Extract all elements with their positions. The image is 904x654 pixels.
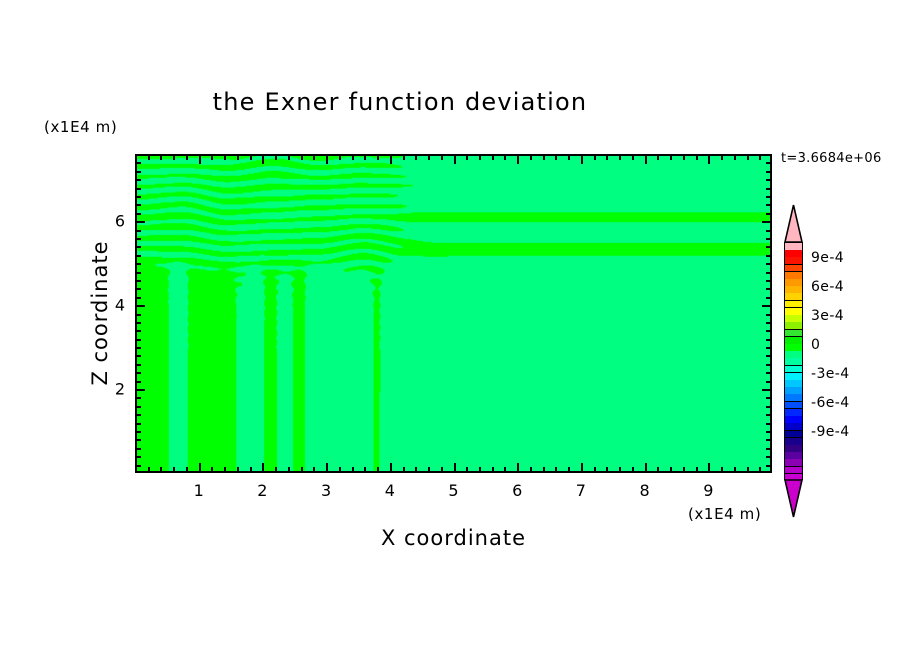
x-minor-tick	[734, 467, 736, 472]
x-minor-tick-top	[594, 155, 596, 160]
y-minor-tick	[136, 297, 141, 299]
x-major-tick	[581, 463, 583, 472]
x-axis-unit-label: (x1E4 m)	[688, 505, 761, 523]
x-minor-tick-top	[696, 155, 698, 160]
x-minor-tick	[428, 467, 430, 472]
x-minor-tick	[619, 467, 621, 472]
x-major-tick	[390, 463, 392, 472]
x-minor-tick	[759, 467, 761, 472]
x-minor-tick	[275, 467, 277, 472]
x-minor-tick	[530, 467, 532, 472]
x-major-tick-top	[262, 155, 264, 164]
x-minor-tick-top	[428, 155, 430, 160]
x-major-tick-top	[326, 155, 328, 164]
x-minor-tick-top	[632, 155, 634, 160]
colorbar-tick-label: 6e-4	[811, 279, 844, 295]
x-minor-tick-top	[670, 155, 672, 160]
y-minor-tick	[136, 171, 141, 173]
x-minor-tick	[173, 467, 175, 472]
x-minor-tick	[211, 467, 213, 472]
y-major-tick-right	[762, 305, 771, 307]
x-minor-tick	[288, 467, 290, 472]
x-minor-tick	[747, 467, 749, 472]
y-minor-tick	[136, 179, 141, 181]
colorbar-tick-label: 0	[811, 337, 820, 353]
x-tick-label: 9	[703, 481, 713, 500]
x-major-tick	[454, 463, 456, 472]
y-major-tick-right	[762, 221, 771, 223]
x-minor-tick-top	[619, 155, 621, 160]
x-minor-tick-top	[657, 155, 659, 160]
y-minor-tick	[136, 381, 141, 383]
x-minor-tick	[670, 467, 672, 472]
y-minor-tick-right	[766, 355, 771, 357]
colorbar-top-arrow-icon	[784, 204, 803, 243]
y-minor-tick-right	[766, 297, 771, 299]
x-minor-tick-top	[352, 155, 354, 160]
x-minor-tick	[568, 467, 570, 472]
y-minor-tick-right	[766, 314, 771, 316]
x-minor-tick-top	[555, 155, 557, 160]
x-minor-tick-top	[606, 155, 608, 160]
y-minor-tick-right	[766, 465, 771, 467]
y-minor-tick	[136, 263, 141, 265]
colorbar-tick-label: 9e-4	[811, 250, 844, 266]
x-minor-tick-top	[173, 155, 175, 160]
y-minor-tick	[136, 372, 141, 374]
x-minor-tick	[250, 467, 252, 472]
x-minor-tick	[441, 467, 443, 472]
x-minor-tick-top	[250, 155, 252, 160]
y-minor-tick	[136, 397, 141, 399]
y-minor-tick	[136, 439, 141, 441]
x-major-tick	[517, 463, 519, 472]
time-stamp-label: t=3.6684e+06	[781, 151, 882, 166]
x-minor-tick-top	[721, 155, 723, 160]
y-minor-tick-right	[766, 188, 771, 190]
x-tick-label: 1	[194, 481, 204, 500]
x-minor-tick	[403, 467, 405, 472]
y-minor-tick-right	[766, 364, 771, 366]
colorbar-bottom-arrow-icon	[784, 479, 803, 518]
y-minor-tick	[136, 314, 141, 316]
y-minor-tick	[136, 456, 141, 458]
y-minor-tick	[136, 272, 141, 274]
y-minor-tick	[136, 238, 141, 240]
x-minor-tick-top	[186, 155, 188, 160]
x-minor-tick-top	[160, 155, 162, 160]
x-minor-tick	[237, 467, 239, 472]
y-minor-tick-right	[766, 171, 771, 173]
y-minor-tick	[136, 322, 141, 324]
x-minor-tick	[543, 467, 545, 472]
x-major-tick	[326, 463, 328, 472]
x-major-tick-top	[454, 155, 456, 164]
x-minor-tick	[415, 467, 417, 472]
y-minor-tick-right	[766, 322, 771, 324]
x-tick-label: 7	[576, 481, 586, 500]
colorbar-tick-label: -6e-4	[811, 395, 850, 411]
y-minor-tick	[136, 288, 141, 290]
y-minor-tick	[136, 406, 141, 408]
y-minor-tick	[136, 196, 141, 198]
x-minor-tick	[224, 467, 226, 472]
x-minor-tick	[555, 467, 557, 472]
page-title: the Exner function deviation	[0, 88, 800, 116]
y-minor-tick-right	[766, 179, 771, 181]
y-minor-tick	[136, 448, 141, 450]
x-minor-tick-top	[275, 155, 277, 160]
x-minor-tick	[696, 467, 698, 472]
x-minor-tick	[466, 467, 468, 472]
contour-field	[137, 156, 770, 471]
y-minor-tick	[136, 213, 141, 215]
x-major-tick	[645, 463, 647, 472]
x-minor-tick-top	[288, 155, 290, 160]
y-major-tick	[136, 221, 145, 223]
x-minor-tick	[479, 467, 481, 472]
y-minor-tick	[136, 364, 141, 366]
x-tick-label: 5	[448, 481, 458, 500]
x-major-tick	[199, 463, 201, 472]
y-minor-tick-right	[766, 272, 771, 274]
x-minor-tick-top	[148, 155, 150, 160]
x-minor-tick	[594, 467, 596, 472]
x-minor-tick-top	[313, 155, 315, 160]
y-minor-tick-right	[766, 456, 771, 458]
y-minor-tick-right	[766, 246, 771, 248]
y-minor-tick-right	[766, 238, 771, 240]
y-minor-tick	[136, 355, 141, 357]
x-minor-tick-top	[364, 155, 366, 160]
x-major-tick-top	[390, 155, 392, 164]
x-minor-tick-top	[568, 155, 570, 160]
y-minor-tick	[136, 465, 141, 467]
y-minor-tick-right	[766, 230, 771, 232]
y-minor-tick	[136, 330, 141, 332]
y-minor-tick-right	[766, 330, 771, 332]
x-minor-tick-top	[492, 155, 494, 160]
y-minor-tick-right	[766, 431, 771, 433]
y-minor-tick	[136, 188, 141, 190]
y-minor-tick-right	[766, 448, 771, 450]
y-minor-tick-right	[766, 255, 771, 257]
x-minor-tick	[377, 467, 379, 472]
x-minor-tick	[301, 467, 303, 472]
x-minor-tick-top	[403, 155, 405, 160]
y-minor-tick-right	[766, 439, 771, 441]
x-minor-tick-top	[377, 155, 379, 160]
x-minor-tick	[492, 467, 494, 472]
x-minor-tick-top	[224, 155, 226, 160]
x-minor-tick	[721, 467, 723, 472]
y-minor-tick-right	[766, 196, 771, 198]
x-major-tick	[262, 463, 264, 472]
x-minor-tick-top	[211, 155, 213, 160]
x-major-tick-top	[199, 155, 201, 164]
x-minor-tick	[364, 467, 366, 472]
y-minor-tick	[136, 162, 141, 164]
y-minor-tick-right	[766, 162, 771, 164]
x-minor-tick-top	[683, 155, 685, 160]
y-minor-tick-right	[766, 397, 771, 399]
x-major-tick-top	[708, 155, 710, 164]
x-minor-tick	[160, 467, 162, 472]
x-tick-label: 4	[385, 481, 395, 500]
x-minor-tick-top	[734, 155, 736, 160]
y-minor-tick-right	[766, 213, 771, 215]
colorbar-tick-label: -9e-4	[811, 424, 850, 440]
x-minor-tick-top	[466, 155, 468, 160]
x-major-tick-top	[581, 155, 583, 164]
y-major-tick	[136, 305, 145, 307]
y-minor-tick	[136, 423, 141, 425]
x-major-tick-top	[645, 155, 647, 164]
x-minor-tick	[632, 467, 634, 472]
x-minor-tick-top	[441, 155, 443, 160]
x-minor-tick-top	[747, 155, 749, 160]
y-major-tick-right	[762, 389, 771, 391]
x-minor-tick	[683, 467, 685, 472]
y-minor-tick	[136, 246, 141, 248]
y-minor-tick-right	[766, 280, 771, 282]
y-minor-tick	[136, 339, 141, 341]
y-minor-tick-right	[766, 263, 771, 265]
x-tick-label: 2	[257, 481, 267, 500]
x-minor-tick	[606, 467, 608, 472]
y-minor-tick-right	[766, 204, 771, 206]
colorbar-tick-label: 3e-4	[811, 308, 844, 324]
y-minor-tick	[136, 414, 141, 416]
plot-area	[135, 154, 772, 473]
x-minor-tick-top	[415, 155, 417, 160]
x-minor-tick-top	[543, 155, 545, 160]
y-minor-tick	[136, 204, 141, 206]
colorbar-tick-label: -3e-4	[811, 366, 850, 382]
y-minor-tick	[136, 230, 141, 232]
y-minor-tick-right	[766, 381, 771, 383]
x-tick-label: 6	[512, 481, 522, 500]
y-minor-tick-right	[766, 372, 771, 374]
x-minor-tick	[504, 467, 506, 472]
x-tick-label: 3	[321, 481, 331, 500]
y-minor-tick-right	[766, 339, 771, 341]
y-minor-tick-right	[766, 347, 771, 349]
y-minor-tick-right	[766, 423, 771, 425]
y-minor-tick	[136, 255, 141, 257]
colorbar-segments	[784, 242, 803, 480]
x-minor-tick	[352, 467, 354, 472]
x-tick-label: 8	[640, 481, 650, 500]
x-minor-tick	[339, 467, 341, 472]
x-minor-tick-top	[759, 155, 761, 160]
x-minor-tick-top	[530, 155, 532, 160]
y-minor-tick	[136, 431, 141, 433]
y-major-tick	[136, 389, 145, 391]
x-minor-tick-top	[237, 155, 239, 160]
x-minor-tick-top	[504, 155, 506, 160]
x-major-tick-top	[517, 155, 519, 164]
x-minor-tick	[186, 467, 188, 472]
x-major-tick	[708, 463, 710, 472]
contour-plot-figure: the Exner function deviation (x1E4 m) (x…	[0, 0, 904, 654]
x-minor-tick-top	[479, 155, 481, 160]
y-minor-tick-right	[766, 406, 771, 408]
y-axis-unit-label: (x1E4 m)	[44, 118, 117, 136]
y-minor-tick	[136, 347, 141, 349]
y-minor-tick	[136, 280, 141, 282]
x-minor-tick	[313, 467, 315, 472]
x-minor-tick	[148, 467, 150, 472]
y-minor-tick-right	[766, 288, 771, 290]
colorbar	[784, 204, 803, 517]
x-axis-title: X coordinate	[135, 526, 772, 550]
x-minor-tick-top	[301, 155, 303, 160]
x-minor-tick	[657, 467, 659, 472]
y-axis-title: Z coordinate	[88, 213, 112, 413]
x-minor-tick-top	[339, 155, 341, 160]
y-minor-tick-right	[766, 414, 771, 416]
